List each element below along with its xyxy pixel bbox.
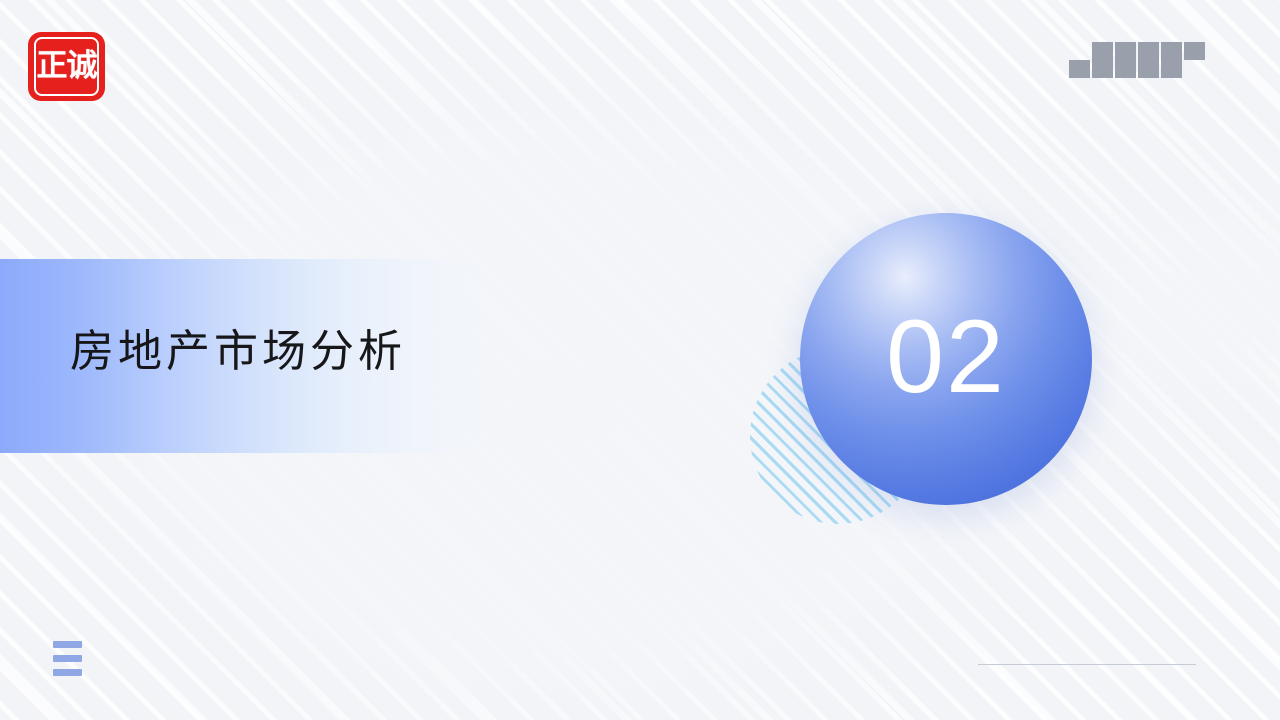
checker-square bbox=[1092, 60, 1113, 78]
checker-square bbox=[1069, 60, 1090, 78]
checker-square bbox=[1138, 42, 1159, 60]
menu-bar bbox=[53, 641, 82, 648]
hamburger-menu-icon[interactable] bbox=[53, 641, 82, 676]
checker-square bbox=[1161, 60, 1182, 78]
checker-square bbox=[1161, 42, 1182, 60]
checker-square bbox=[1115, 60, 1136, 78]
checker-square bbox=[1092, 42, 1113, 60]
presentation-slide: 正诚 房地产市场分析 02 bbox=[0, 0, 1280, 720]
logo-text: 正诚 bbox=[28, 32, 105, 101]
company-logo: 正诚 bbox=[28, 32, 105, 101]
checker-square bbox=[1184, 42, 1205, 60]
page-title: 房地产市场分析 bbox=[70, 330, 406, 374]
section-number-sphere: 02 bbox=[800, 213, 1092, 505]
menu-bar bbox=[53, 669, 82, 676]
section-number: 02 bbox=[800, 213, 1092, 505]
checker-square bbox=[1115, 42, 1136, 60]
menu-bar bbox=[53, 655, 82, 662]
footer-divider bbox=[978, 664, 1196, 665]
checkerboard-icon bbox=[1069, 42, 1197, 78]
checker-square bbox=[1138, 60, 1159, 78]
